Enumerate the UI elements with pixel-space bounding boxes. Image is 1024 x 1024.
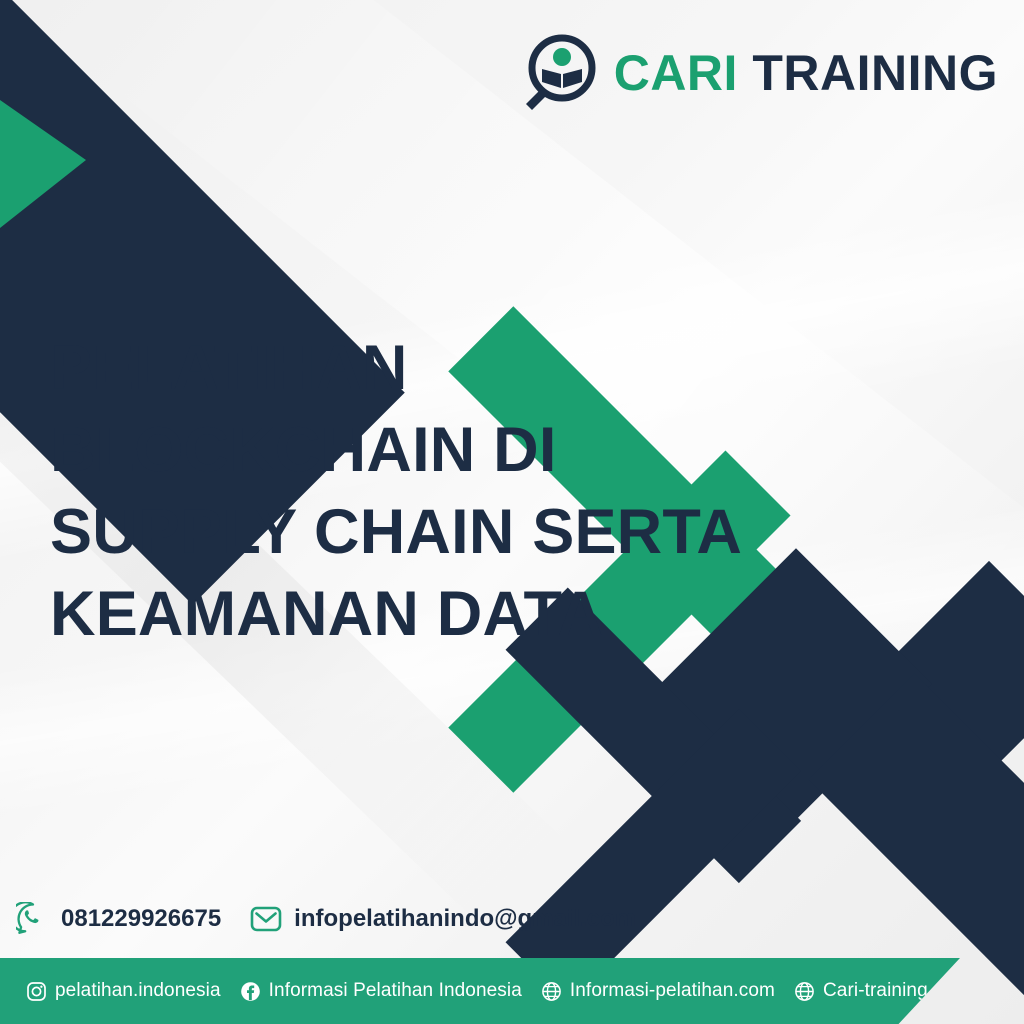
footer-bar: pelatihan.indonesia Informasi Pelatihan … [0, 958, 960, 1024]
headline: PELATIHAN BLOCKCHAIN DI SUPPLY CHAIN SER… [50, 328, 810, 656]
contact-email-label: infopelatihanindo@gmail.com [294, 905, 636, 933]
brand-wordmark: CARI TRAINING [614, 48, 998, 98]
brand-word-training: TRAINING [752, 45, 998, 101]
facebook-icon [240, 981, 261, 1002]
magnifier-book-icon [516, 32, 598, 114]
whatsapp-icon [16, 902, 50, 936]
brand-logo[interactable]: CARI TRAINING [516, 32, 998, 114]
footer-instagram[interactable]: pelatihan.indonesia [26, 980, 221, 1002]
green-triangle-top-left [0, 100, 86, 228]
globe-icon [794, 981, 815, 1002]
contact-row: 081229926675 infopelatihanindo@gmail.com [16, 902, 636, 936]
brand-word-cari: CARI [614, 45, 738, 101]
footer-website-informasi-label: Informasi-pelatihan.com [570, 980, 775, 1002]
headline-line-1: PELATIHAN [50, 328, 810, 410]
instagram-icon [26, 981, 47, 1002]
headline-line-2: BLOCKCHAIN DI [50, 410, 810, 492]
footer-instagram-label: pelatihan.indonesia [55, 980, 221, 1002]
footer-links: pelatihan.indonesia Informasi Pelatihan … [26, 958, 979, 1024]
contact-email[interactable]: infopelatihanindo@gmail.com [249, 902, 636, 936]
contact-whatsapp-label: 081229926675 [61, 905, 221, 933]
globe-icon [541, 981, 562, 1002]
headline-line-4: KEAMANAN DATA [50, 574, 810, 656]
footer-facebook-label: Informasi Pelatihan Indonesia [269, 980, 522, 1002]
headline-line-3: SUPPLY CHAIN SERTA [50, 492, 810, 574]
email-icon [249, 902, 283, 936]
footer-website-informasi[interactable]: Informasi-pelatihan.com [541, 980, 775, 1002]
poster-canvas: CARI TRAINING PELATIHAN BLOCKCHAIN DI SU… [0, 0, 1024, 1024]
contact-whatsapp[interactable]: 081229926675 [16, 902, 221, 936]
footer-facebook[interactable]: Informasi Pelatihan Indonesia [240, 980, 522, 1002]
